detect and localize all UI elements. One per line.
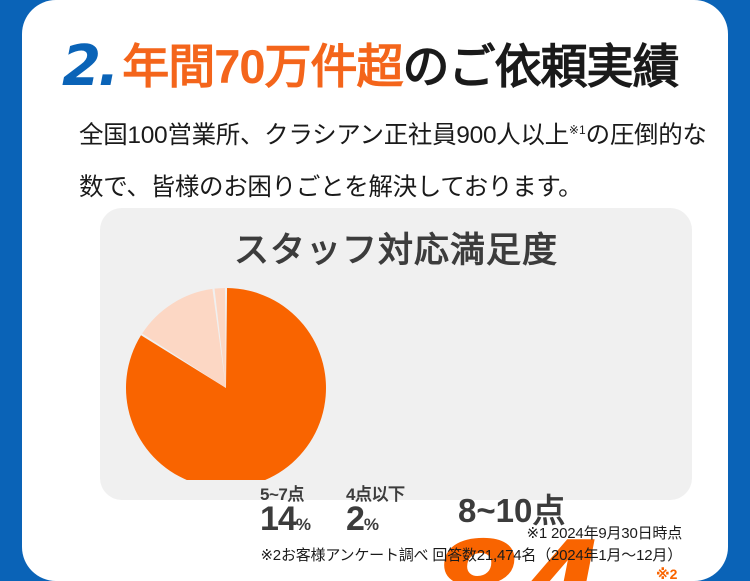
satisfaction-chart-card: スタッフ対応満足度 5~7点 14% 4点以下 2% 8~10点 84% ※2 [100,208,692,500]
pie-chart [116,280,366,480]
heading-rest: のご依頼実績 [403,40,679,93]
body-line1-a: 全国100営業所、クラシアン正社員900人以上 [79,122,569,149]
footnote-1: ※1 2024年9月30日時点 [260,523,682,545]
body-line1-b: の圧倒的な [586,122,707,149]
body-paragraph: 全国100営業所、クラシアン正社員900人以上※1の圧倒的な 数で、皆様のお困り… [79,104,728,214]
footnote-marker-1: ※1 [569,123,586,137]
chart-title: スタッフ対応満足度 [100,222,692,273]
blue-frame-background: 2.年間70万件超のご依頼実績 全国100営業所、クラシアン正社員900人以上※… [0,0,750,581]
heading-highlight: 年間70万件超 [122,40,402,93]
section-number: 2. [62,34,122,99]
footnote-marker-2: ※2 [656,566,677,581]
pie-label-8-10-unit: % [600,576,664,581]
pie-chart-svg [116,280,366,480]
footnotes: ※1 2024年9月30日時点 ※2お客様アンケート調べ 回答数21,474名（… [260,523,682,567]
footnote-2: ※2お客様アンケート調べ 回答数21,474名（2024年1月〜12月） [260,545,682,567]
white-content-card: 2.年間70万件超のご依頼実績 全国100営業所、クラシアン正社員900人以上※… [22,0,728,581]
page-title: 2.年間70万件超のご依頼実績 [62,28,728,90]
body-line2: 数で、皆様のお困りごとを解決しております。 [79,174,582,201]
